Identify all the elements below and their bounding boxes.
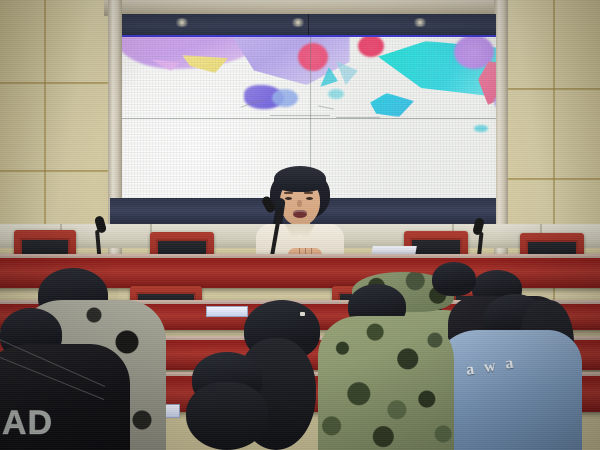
student-head-back-right (432, 262, 476, 296)
student-denim-jacket (432, 330, 582, 450)
student-green-camo-center (318, 316, 454, 450)
presenter-mouth-speaking (293, 210, 307, 218)
student-black-jacket-print: AD (2, 404, 53, 443)
nameplate-row2-center (206, 306, 248, 317)
lecture-hall-photo: T M a w a AD (0, 0, 600, 450)
hairclip-icon (300, 312, 305, 316)
ceiling-soffit (122, 14, 496, 36)
led-seam-horizontal (122, 118, 496, 119)
presenter-hair-top (274, 166, 326, 192)
presenter-nose (297, 200, 302, 207)
podium-desk-edge (0, 254, 600, 258)
presenter-at-podium[interactable] (252, 168, 348, 260)
student-ponytail-left (186, 382, 268, 450)
